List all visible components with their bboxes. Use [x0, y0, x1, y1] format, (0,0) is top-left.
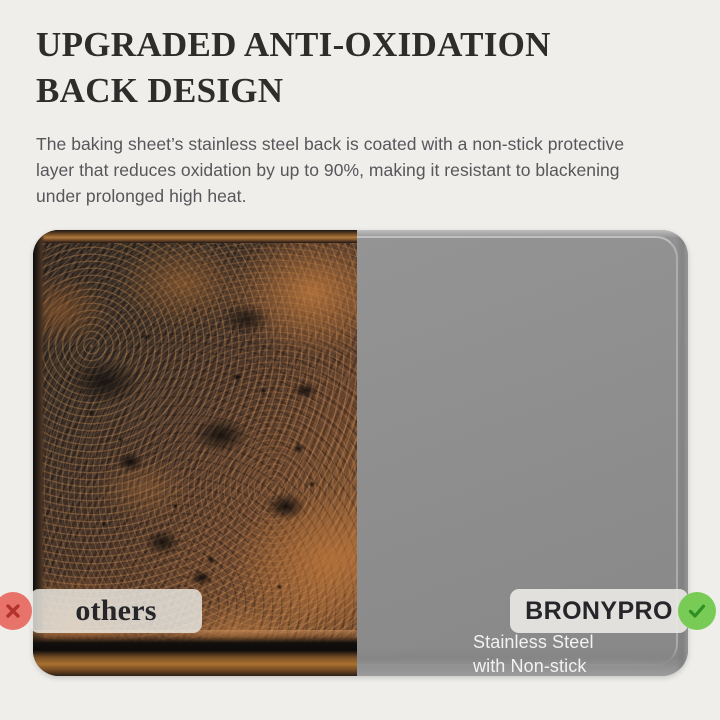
coating-caption: Stainless Steel with Non-stick Protectiv…: [473, 630, 653, 676]
header-text-block: UPGRADED ANTI-OXIDATION BACK DESIGN The …: [36, 22, 676, 210]
check-icon: [678, 592, 716, 630]
badge-brand: BRONYPRO: [510, 589, 688, 633]
page-title: UPGRADED ANTI-OXIDATION BACK DESIGN: [36, 22, 676, 114]
tray-bottom-lip-left: [33, 630, 357, 676]
tray-top-lip-left: [33, 230, 357, 243]
badge-brand-label: BRONYPRO: [525, 597, 673, 626]
badge-others-label: others: [75, 594, 156, 628]
cross-icon: [0, 592, 32, 630]
badge-others: others: [30, 589, 202, 633]
comparison-badge-row: others BRONYPRO: [0, 589, 720, 635]
page-description: The baking sheet’s stainless steel back …: [36, 132, 661, 209]
